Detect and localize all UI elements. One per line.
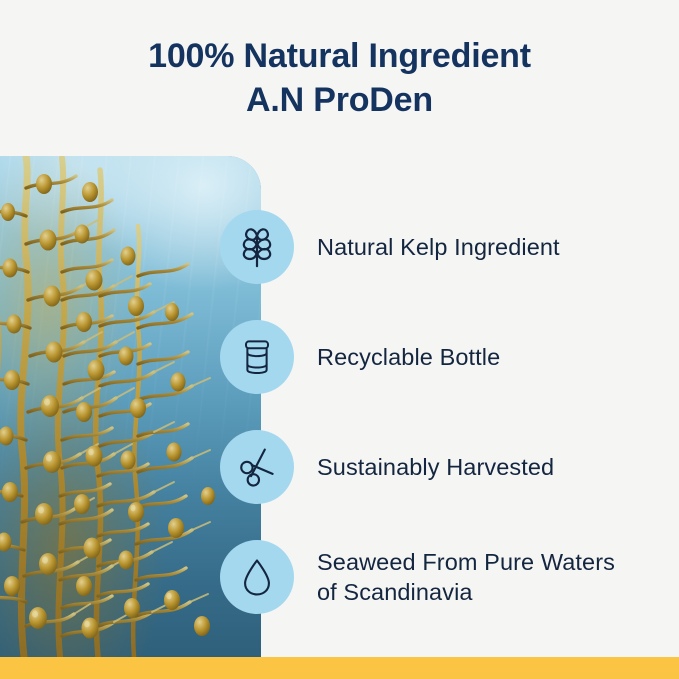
bottle-jar-icon xyxy=(220,320,294,394)
feature-label-line-2: of Scandinavia xyxy=(317,577,615,607)
kelp-seaweed-illustration xyxy=(0,156,226,657)
page-title: 100% Natural Ingredient A.N ProDen xyxy=(0,34,679,122)
feature-row-recyclable-bottle: Recyclable Bottle xyxy=(220,320,660,394)
infographic-page: 100% Natural Ingredient A.N ProDen xyxy=(0,0,679,679)
page-title-line-1: 100% Natural Ingredient xyxy=(0,34,679,78)
page-title-line-2: A.N ProDen xyxy=(0,78,679,122)
feature-label-recyclable-bottle: Recyclable Bottle xyxy=(317,342,500,372)
feature-label-scandinavian-waters: Seaweed From Pure Waters of Scandinavia xyxy=(317,547,615,607)
water-drop-icon xyxy=(220,540,294,614)
feature-label-sustainably-harvested: Sustainably Harvested xyxy=(317,452,554,482)
scissors-icon xyxy=(220,430,294,504)
feature-label-natural-kelp: Natural Kelp Ingredient xyxy=(317,232,560,262)
bottom-accent-bar xyxy=(0,657,679,679)
kelp-leaf-icon xyxy=(220,210,294,284)
feature-row-natural-kelp: Natural Kelp Ingredient xyxy=(220,210,660,284)
feature-row-scandinavian-waters: Seaweed From Pure Waters of Scandinavia xyxy=(220,540,660,614)
feature-label-line-1: Seaweed From Pure Waters xyxy=(317,547,615,577)
feature-row-sustainably-harvested: Sustainably Harvested xyxy=(220,430,660,504)
